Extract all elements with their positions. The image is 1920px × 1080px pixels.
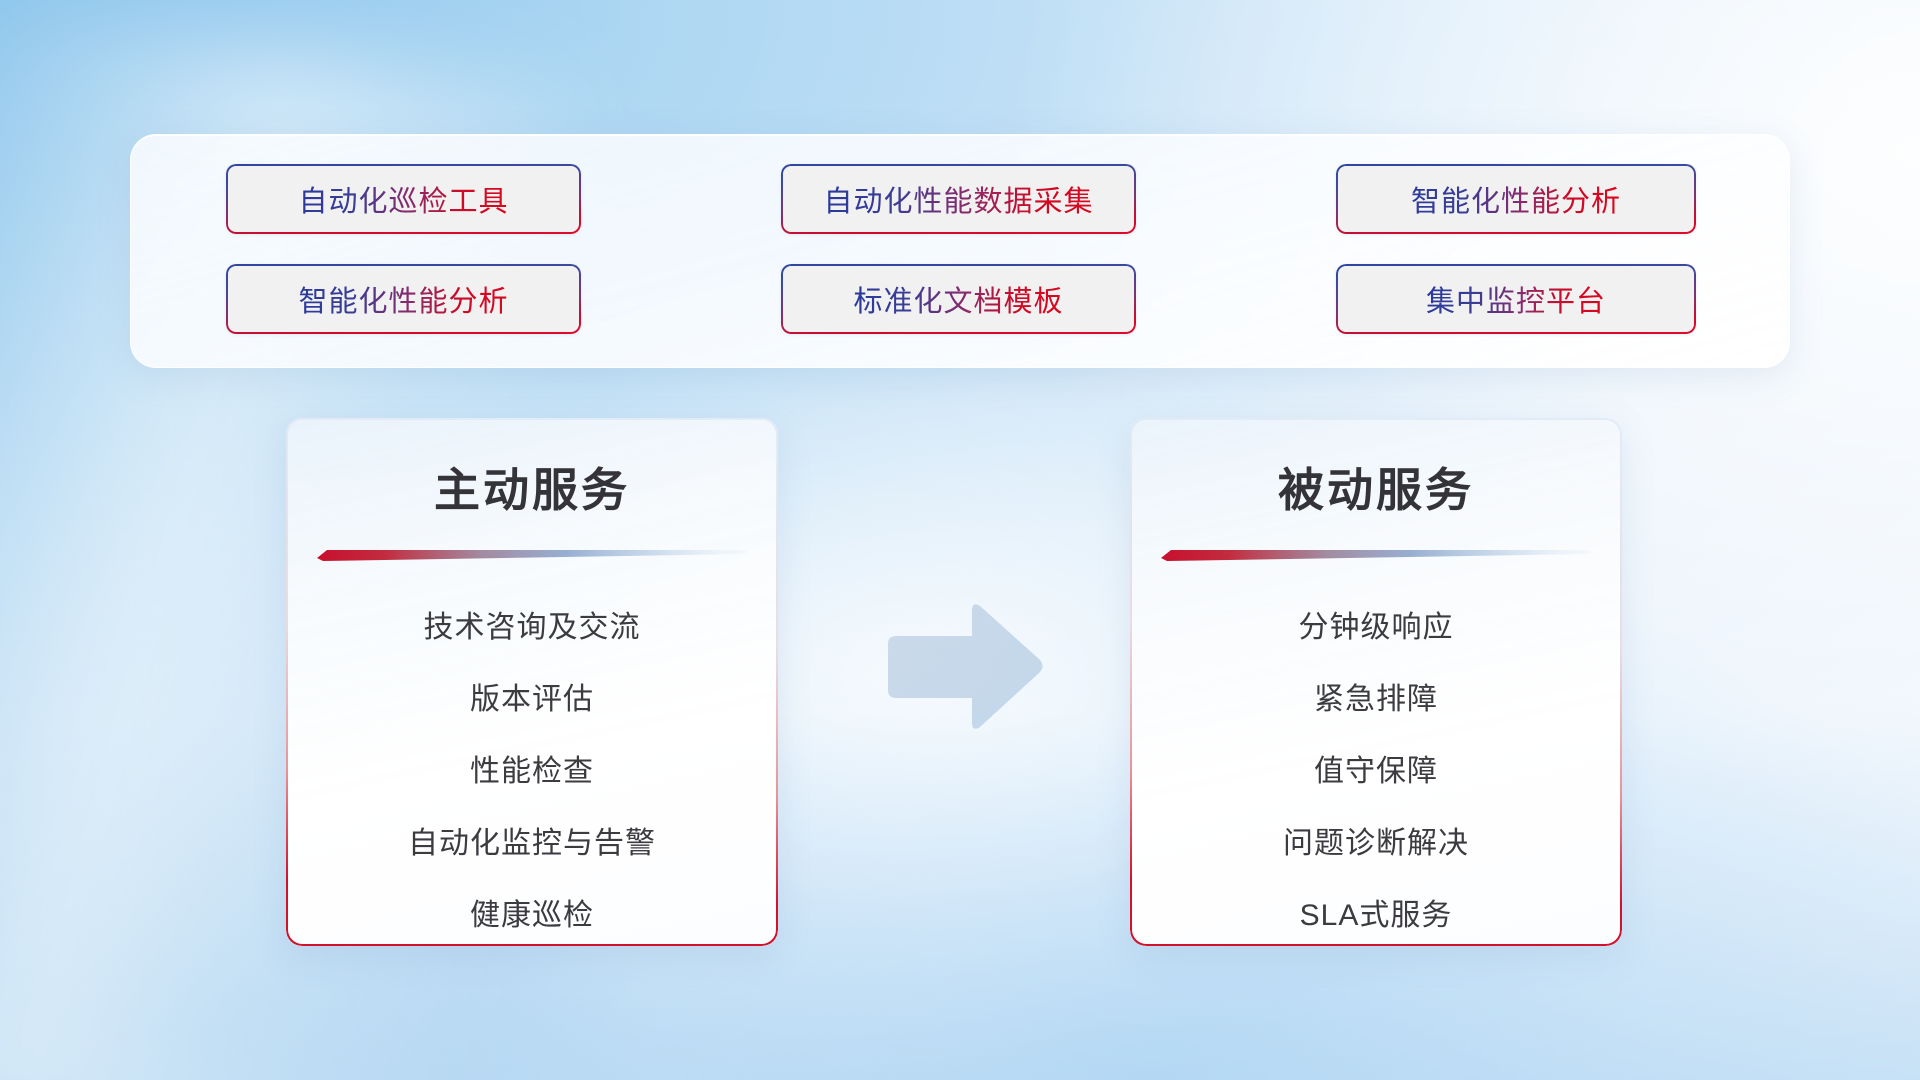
service-card-item-list: 分钟级响应 紧急排障 值守保障 问题诊断解决 SLA式服务 [1130,592,1622,946]
capability-tag-label: 集中监控平台 [1426,278,1606,320]
service-list-item: 性能检查 [286,736,778,808]
capability-tag[interactable]: 集中监控平台 [1336,264,1696,334]
capability-tag[interactable]: 标准化文档模板 [781,264,1136,334]
service-card-item-list: 技术咨询及交流 版本评估 性能检查 自动化监控与告警 健康巡检 [286,592,778,946]
service-card-title: 主动服务 [286,454,778,520]
service-card-reactive: 被动服务 分钟级响应 紧急排障 值守保障 问题诊断解决 SLA式服务 [1130,418,1622,946]
capability-tag[interactable]: 智能化性能分析 [226,264,581,334]
service-list-item: 技术咨询及交流 [286,592,778,664]
capability-tag-label: 自动化巡检工具 [298,178,508,220]
service-card-title: 被动服务 [1130,454,1622,520]
capability-tag[interactable]: 自动化性能数据采集 [781,164,1136,234]
capabilities-panel: 自动化巡检工具 自动化性能数据采集 智能化性能分析 智能化性能分析 标准化文档模… [130,134,1790,368]
arrow-right-icon [876,600,1046,734]
service-list-item: 健康巡检 [286,880,778,946]
capability-tag[interactable]: 智能化性能分析 [1336,164,1696,234]
service-list-item: 值守保障 [1130,736,1622,808]
service-list-item: 自动化监控与告警 [286,808,778,880]
capability-tag[interactable]: 自动化巡检工具 [226,164,581,234]
title-divider [317,546,747,562]
service-list-item: 问题诊断解决 [1130,808,1622,880]
service-list-item: 紧急排障 [1130,664,1622,736]
service-card-proactive: 主动服务 技术咨询及交流 版本评估 性能检查 自动化监控与告警 健康巡检 [286,418,778,946]
service-list-item: SLA式服务 [1130,880,1622,946]
title-divider [1161,546,1591,562]
service-list-item: 版本评估 [286,664,778,736]
capability-tag-label: 自动化性能数据采集 [823,178,1093,220]
capability-tag-label: 标准化文档模板 [853,278,1063,320]
capability-tag-label: 智能化性能分析 [298,278,508,320]
capability-tag-grid: 自动化巡检工具 自动化性能数据采集 智能化性能分析 智能化性能分析 标准化文档模… [226,164,1696,334]
service-list-item: 分钟级响应 [1130,592,1622,664]
capability-tag-label: 智能化性能分析 [1411,178,1621,220]
